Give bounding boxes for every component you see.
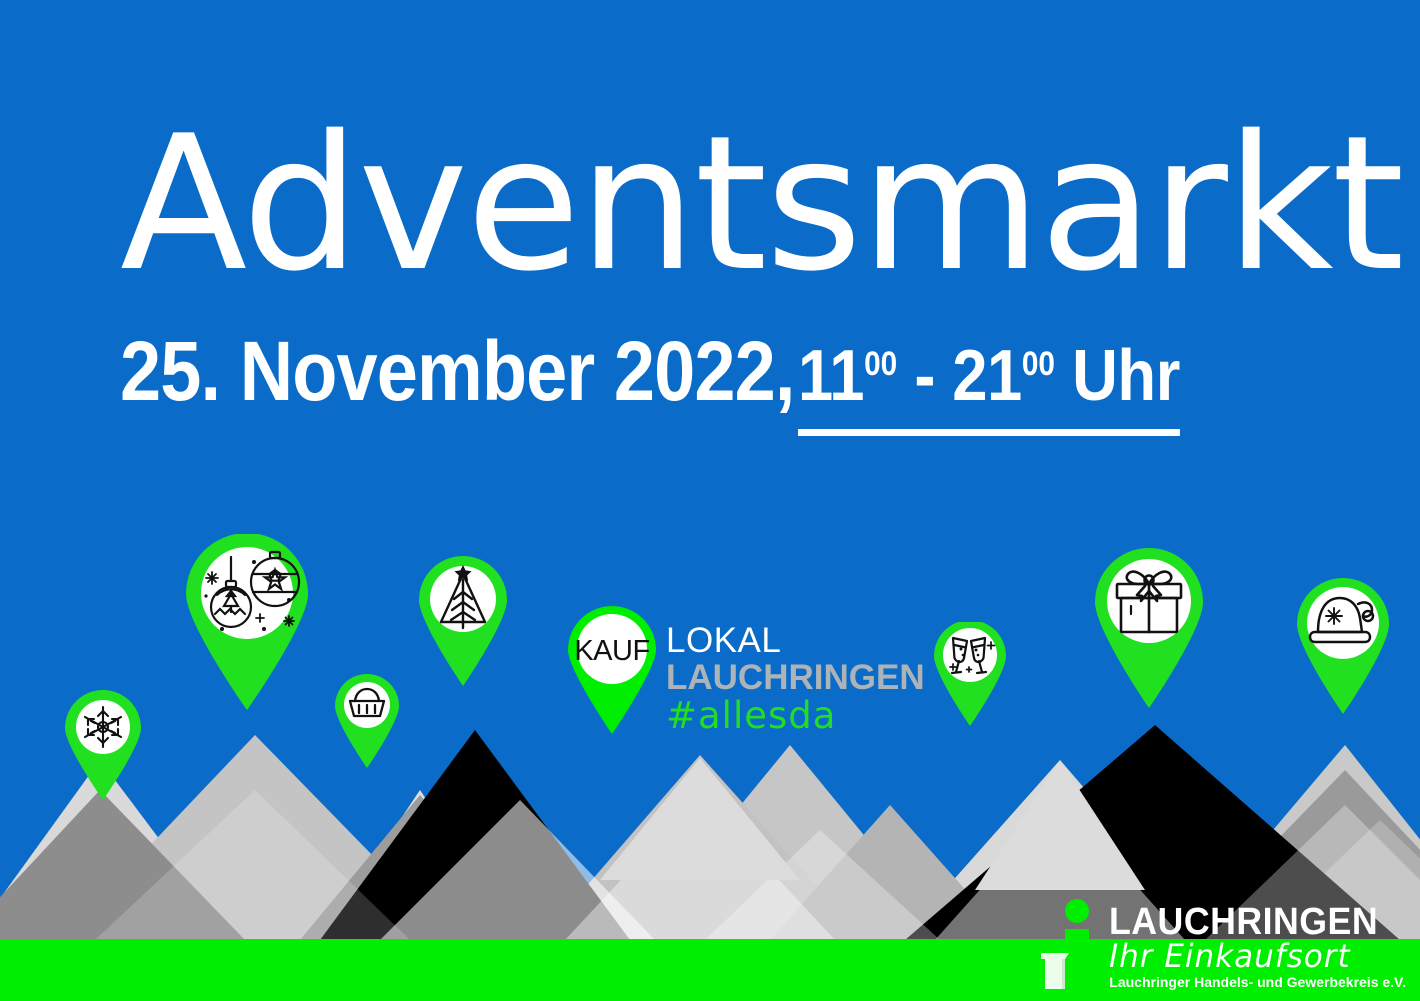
pin-snowflake[interactable] <box>57 690 149 800</box>
kauf-lokal-logo[interactable]: KAUF LOKAL LAUCHRINGEN #allesda <box>560 606 925 734</box>
time-separator: - <box>898 336 953 416</box>
pin-christmas-baubles[interactable] <box>176 534 318 710</box>
headline-block: Adventsmarkt 25. November 2022, 1100 - 2… <box>120 118 1403 436</box>
logo-name: LAUCHRINGEN <box>1109 903 1388 941</box>
kauf-label: KAUF <box>560 606 664 696</box>
logo-slogan: Ihr Einkaufsort <box>1109 940 1397 972</box>
kauf-lokal-text: LOKAL LAUCHRINGEN #allesda <box>666 623 925 734</box>
logo-association: Lauchringer Handels- und Gewerbekreis e.… <box>1109 975 1406 989</box>
shopper-figure-icon <box>1037 897 1103 993</box>
event-date: 25. November 2022, <box>120 323 794 420</box>
pin-champagne-glasses[interactable] <box>928 622 1012 726</box>
christmas-baubles-icon <box>176 534 318 710</box>
kauf-lokal-hashtag: #allesda <box>666 697 925 734</box>
kauf-lokal-line-lokal: LOKAL <box>666 623 925 658</box>
pin-shopping-basket[interactable] <box>329 674 405 768</box>
adventsmarkt-poster: Adventsmarkt 25. November 2022, 1100 - 2… <box>0 0 1420 1001</box>
event-time: 1100 - 2100 Uhr <box>798 335 1180 436</box>
time-close-minutes: 00 <box>1022 345 1055 383</box>
page-title: Adventsmarkt <box>120 118 1403 289</box>
gift-box-icon <box>1085 548 1213 708</box>
time-unit: Uhr <box>1055 336 1180 416</box>
time-close-hour: 21 <box>953 336 1023 416</box>
time-open-hour: 11 <box>798 336 864 416</box>
pin-santa-hat[interactable] <box>1288 578 1398 714</box>
lauchringen-logo-text: LAUCHRINGEN Ihr Einkaufsort Lauchringer … <box>1109 903 1406 993</box>
lauchringen-logo[interactable]: LAUCHRINGEN Ihr Einkaufsort Lauchringer … <box>1037 897 1406 993</box>
kauf-lokal-pin: KAUF <box>560 606 664 734</box>
snowflake-icon <box>57 690 149 800</box>
subline: 25. November 2022, 1100 - 2100 Uhr <box>120 323 1403 436</box>
christmas-tree-icon <box>411 556 515 686</box>
shopping-basket-icon <box>329 674 405 768</box>
pin-christmas-tree[interactable] <box>411 556 515 686</box>
kauf-lokal-line-city: LAUCHRINGEN <box>666 660 925 695</box>
champagne-glasses-icon <box>928 622 1012 726</box>
pin-gift-box[interactable] <box>1085 548 1213 708</box>
time-open-minutes: 00 <box>865 345 898 383</box>
santa-hat-icon <box>1288 578 1398 714</box>
